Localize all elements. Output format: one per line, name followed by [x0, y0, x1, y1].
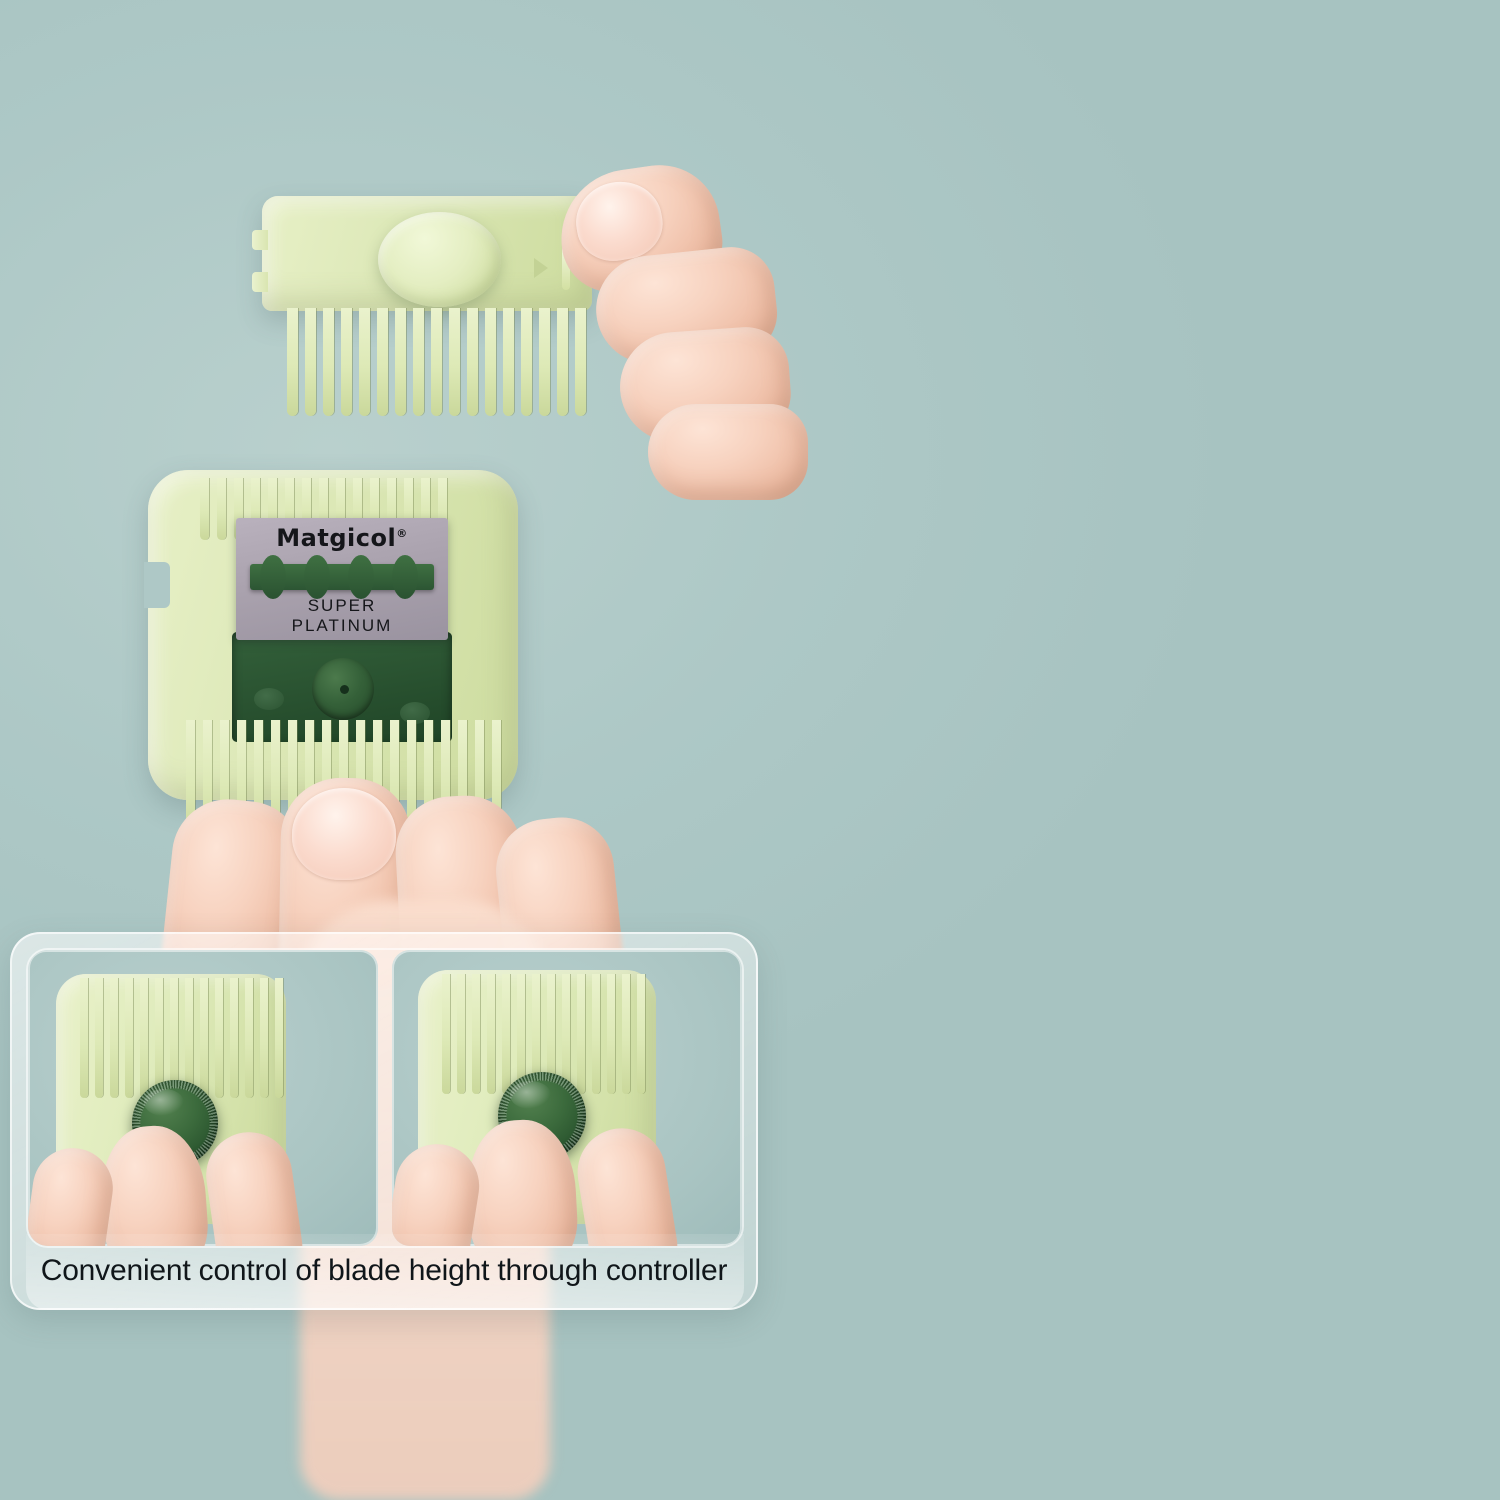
comb-tooth [377, 308, 388, 416]
comb-tooth [521, 308, 532, 416]
comb-tooth [503, 308, 514, 416]
right-panel: Detach ABS protective cover to avoid dus… [770, 0, 1500, 1500]
comb-tooth [449, 308, 460, 416]
clipper-head-top-teeth [287, 308, 593, 416]
blade-sub-line-1: SUPER [236, 596, 448, 616]
comb-tooth [472, 974, 480, 1094]
comb-tooth [215, 978, 223, 1098]
blade-brand-text: Matgicol [276, 524, 396, 552]
comb-tooth [607, 974, 615, 1094]
comb-tooth [457, 974, 465, 1094]
comb-tooth [575, 308, 586, 416]
comb-tooth [413, 308, 424, 416]
blade-screw [312, 658, 374, 720]
comb-tooth [80, 978, 88, 1098]
tile-teeth [80, 978, 290, 1098]
trademark-icon: ® [396, 527, 408, 540]
inset-caption-text: Convenient control of blade height throu… [12, 1254, 756, 1288]
comb-tooth [487, 974, 495, 1094]
comb-tooth [230, 978, 238, 1098]
arrow-icon [534, 258, 548, 278]
comb-tooth [341, 308, 352, 416]
fingernail [292, 788, 396, 880]
comb-tooth [577, 974, 585, 1094]
left-panel: Matgicol® SUPER PLATINUM [0, 0, 770, 1500]
blade-head-notch [144, 562, 170, 608]
comb-tooth [622, 974, 630, 1094]
inset-tile-blade-height-high [392, 950, 742, 1246]
comb-tooth [217, 478, 226, 540]
comb-tooth [275, 978, 283, 1098]
comb-tooth [245, 978, 253, 1098]
comb-tooth [140, 978, 148, 1098]
comb-tooth [485, 308, 496, 416]
comb-tooth [155, 978, 163, 1098]
rivet [254, 688, 284, 710]
comb-tooth [592, 974, 600, 1094]
comb-tooth [431, 308, 442, 416]
comb-tooth [287, 308, 298, 416]
razor-blade-label: Matgicol® SUPER PLATINUM [236, 518, 448, 640]
comb-tooth [305, 308, 316, 416]
comb-tooth [539, 308, 550, 416]
comb-tooth [323, 308, 334, 416]
infographic-canvas: Matgicol® SUPER PLATINUM [0, 0, 1500, 1500]
blade-slot [250, 564, 434, 590]
comb-tooth [110, 978, 118, 1098]
inset-tile-blade-height-low [28, 950, 378, 1246]
comb-tooth [125, 978, 133, 1098]
comb-tooth [185, 978, 193, 1098]
comb-tooth [637, 974, 645, 1094]
comb-tooth [395, 308, 406, 416]
comb-tooth [467, 308, 478, 416]
comb-tooth [95, 978, 103, 1098]
comb-tooth [260, 978, 268, 1098]
blade-height-inset-card: Convenient control of blade height throu… [10, 932, 758, 1310]
comb-tooth [557, 308, 568, 416]
comb-tooth [562, 974, 570, 1094]
clipper-head-top-knob [378, 212, 501, 307]
inset-tiles-row [26, 948, 744, 1248]
blade-sub-line-2: PLATINUM [236, 616, 448, 636]
comb-tooth [200, 478, 209, 540]
blade-brand-name: Matgicol® [236, 524, 448, 552]
comb-tooth [502, 974, 510, 1094]
comb-tooth [442, 974, 450, 1094]
comb-tooth [359, 308, 370, 416]
comb-tooth [200, 978, 208, 1098]
